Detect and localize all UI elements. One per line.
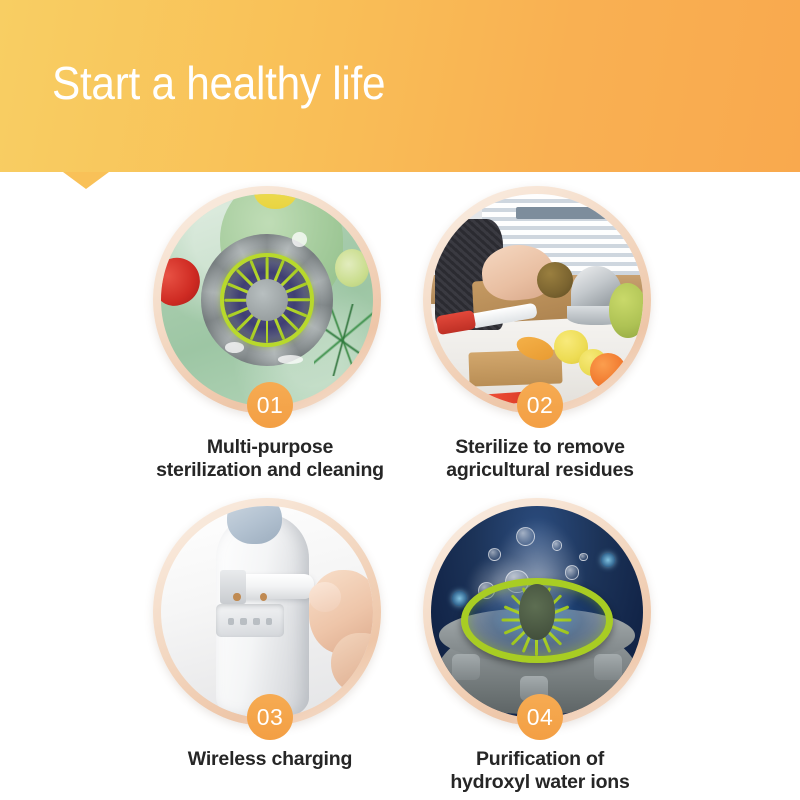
- feature-badge-3: 03: [247, 694, 293, 740]
- caption-line: Sterilize to remove: [375, 436, 705, 459]
- bubble-shape: [552, 540, 563, 551]
- feature-image-3: [161, 506, 373, 718]
- feature-card-4: 04 Purification of hydroxyl water ions: [375, 498, 705, 798]
- finger-shape: [331, 633, 373, 692]
- feature-image-4: [431, 506, 643, 718]
- lime-wedge-shape: [335, 249, 369, 287]
- ion-particle-shape: [452, 591, 467, 606]
- feature-card-2: 02 Sterilize to remove agricultural resi…: [375, 186, 705, 486]
- bubble-shape: [516, 527, 535, 546]
- ion-particle-shape: [601, 553, 616, 568]
- fingernail-shape: [309, 582, 341, 612]
- feature-badge-4: 04: [517, 694, 563, 740]
- header-notch-triangle: [63, 172, 109, 189]
- pear-shape: [609, 283, 643, 338]
- bubble-shape: [579, 553, 587, 561]
- base-tab-shape: [452, 654, 480, 679]
- water-highlight: [278, 355, 303, 363]
- feature-photo-ring-4: [423, 498, 651, 726]
- window-frame-shape: [516, 207, 635, 220]
- caption-line: agricultural residues: [375, 459, 705, 482]
- strawberry-shape: [161, 252, 205, 311]
- header-banner: Start a healthy life: [0, 0, 800, 172]
- impeller-hub-shape: [246, 279, 288, 321]
- contact-pads: [233, 593, 267, 601]
- feature-caption-2: Sterilize to remove agricultural residue…: [375, 436, 705, 482]
- feature-badge-2: 02: [517, 382, 563, 428]
- feature-caption-4: Purification of hydroxyl water ions: [375, 748, 705, 794]
- feature-badge-1: 01: [247, 382, 293, 428]
- kiwi-shape: [537, 262, 573, 298]
- charging-pins: [225, 616, 276, 627]
- feature-image-1: [161, 194, 373, 406]
- feature-photo-ring-2: [423, 186, 651, 414]
- impeller-hub-shape: [519, 584, 555, 639]
- feature-grid: 01 Multi-purpose sterilization and clean…: [0, 186, 800, 800]
- caption-line: hydroxyl water ions: [375, 771, 705, 794]
- feature-image-2: [431, 194, 643, 406]
- caption-line: Purification of: [375, 748, 705, 771]
- orange-shape: [590, 353, 626, 389]
- feature-photo-ring-1: [153, 186, 381, 414]
- page-title: Start a healthy life: [52, 54, 385, 112]
- base-tab-shape: [594, 654, 622, 679]
- water-highlight: [225, 342, 244, 353]
- product-feature-infographic: Start a healthy life: [0, 0, 800, 800]
- bubble-shape: [488, 548, 501, 561]
- feature-photo-ring-3: [153, 498, 381, 726]
